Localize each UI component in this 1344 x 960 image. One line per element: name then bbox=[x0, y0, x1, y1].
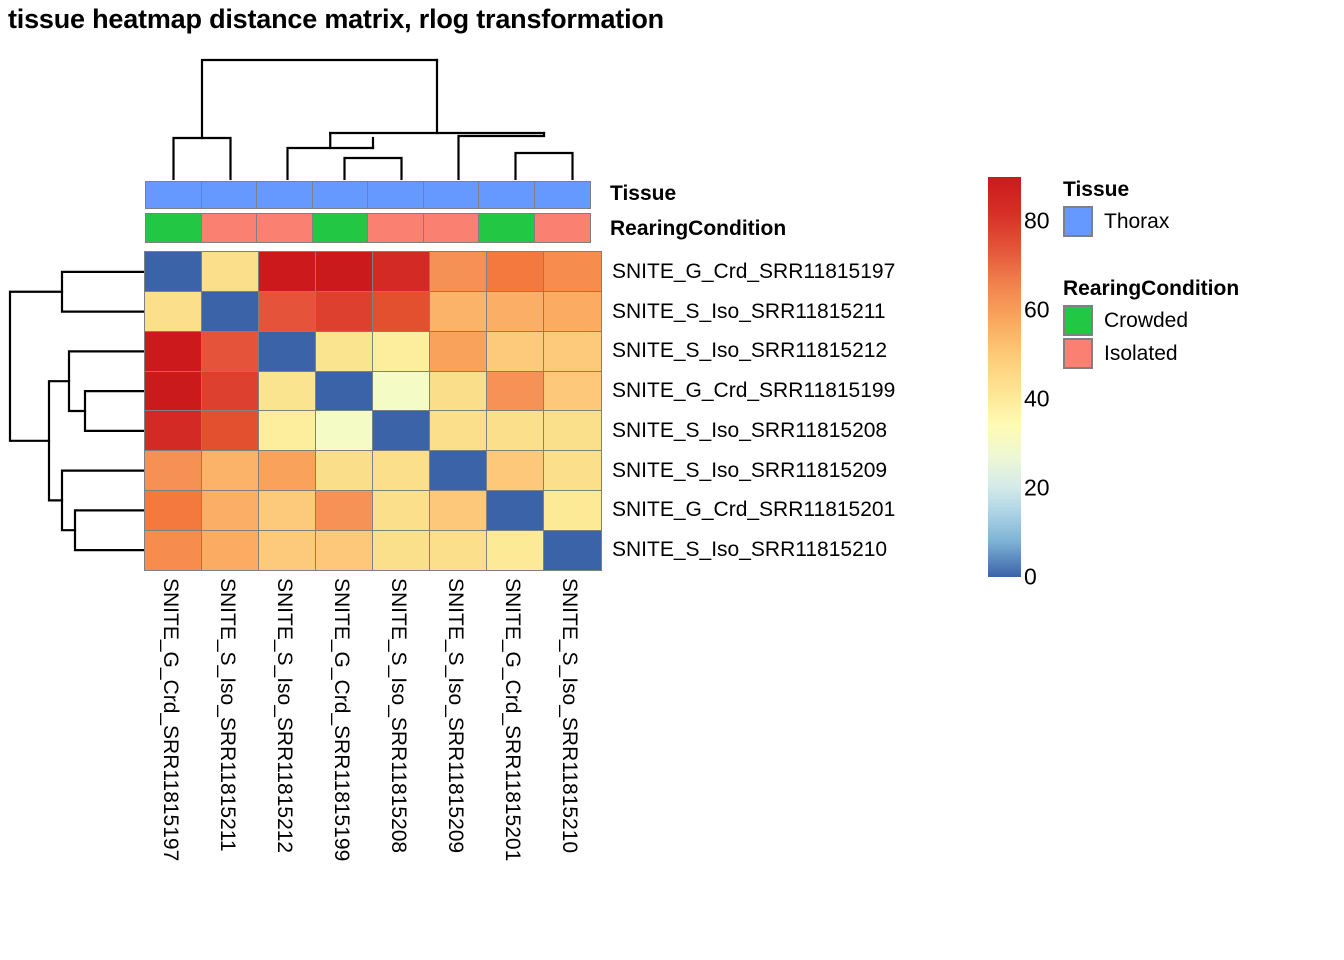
column-label: SNITE_S_Iso_SRR11815211 bbox=[215, 578, 239, 852]
annotation-cell-rearingcondition bbox=[201, 213, 258, 243]
column-label: SNITE_S_Iso_SRR11815212 bbox=[272, 578, 296, 853]
heatmap-cell bbox=[258, 450, 317, 491]
legend-item[interactable]: Isolated bbox=[1063, 337, 1239, 370]
column-label: SNITE_S_Iso_SRR11815208 bbox=[386, 578, 410, 853]
heatmap-cell bbox=[543, 251, 602, 292]
legend-title: Tissue bbox=[1063, 178, 1169, 202]
heatmap-cell bbox=[201, 530, 260, 571]
heatmap-cell bbox=[543, 331, 602, 372]
colorbar bbox=[988, 177, 1021, 577]
colorbar-gradient bbox=[988, 177, 1021, 577]
annotation-cell-rearingcondition bbox=[256, 213, 313, 243]
heatmap-cell bbox=[201, 331, 260, 372]
heatmap-cell bbox=[258, 530, 317, 571]
colorbar-tick-label: 20 bbox=[1024, 475, 1050, 502]
heatmap-cell bbox=[201, 371, 260, 412]
row-label: SNITE_S_Iso_SRR11815211 bbox=[612, 300, 886, 324]
annotation-cell-tissue bbox=[367, 181, 424, 209]
heatmap-cell bbox=[201, 450, 260, 491]
heatmap-cell bbox=[486, 490, 545, 531]
annotation-cell-tissue bbox=[201, 181, 258, 209]
annotation-cell-tissue bbox=[534, 181, 591, 209]
column-label-group: SNITE_G_Crd_SRR11815197SNITE_S_Iso_SRR11… bbox=[145, 578, 601, 953]
row-dendrogram bbox=[5, 252, 145, 570]
legend-title: RearingCondition bbox=[1063, 277, 1239, 301]
heatmap-cell bbox=[201, 410, 260, 451]
row-label: SNITE_G_Crd_SRR11815197 bbox=[612, 260, 895, 284]
legend-swatch bbox=[1063, 338, 1093, 369]
legend-item[interactable]: Thorax bbox=[1063, 205, 1169, 238]
legend-item-label: Crowded bbox=[1104, 309, 1188, 333]
heatmap-cell bbox=[144, 450, 203, 491]
heatmap-cell bbox=[486, 251, 545, 292]
heatmap-cell bbox=[543, 490, 602, 531]
heatmap-cell bbox=[543, 291, 602, 332]
legend-tissue: TissueThorax bbox=[1063, 178, 1169, 238]
annotation-cell-tissue bbox=[256, 181, 313, 209]
legend-item-label: Thorax bbox=[1104, 210, 1169, 234]
heatmap-cell bbox=[315, 371, 374, 412]
annotation-cell-rearingcondition bbox=[367, 213, 424, 243]
heatmap-cell bbox=[372, 410, 431, 451]
row-label: SNITE_S_Iso_SRR11815208 bbox=[612, 419, 887, 443]
column-label: SNITE_G_Crd_SRR11815197 bbox=[158, 578, 182, 861]
heatmap-cell bbox=[201, 291, 260, 332]
heatmap-cell bbox=[429, 450, 488, 491]
heatmap-cell bbox=[486, 291, 545, 332]
heatmap-cell bbox=[315, 490, 374, 531]
row-label-group: SNITE_G_Crd_SRR11815197SNITE_S_Iso_SRR11… bbox=[612, 252, 982, 570]
row-label: SNITE_G_Crd_SRR11815199 bbox=[612, 379, 895, 403]
heatmap-cell bbox=[486, 450, 545, 491]
annotation-cell-rearingcondition bbox=[145, 213, 202, 243]
annotation-cell-tissue bbox=[478, 181, 535, 209]
legend-item[interactable]: Crowded bbox=[1063, 304, 1239, 337]
heatmap-cell bbox=[372, 490, 431, 531]
heatmap-cell bbox=[315, 251, 374, 292]
annotation-cell-rearingcondition bbox=[423, 213, 480, 243]
annotation-label-rearingcondition: RearingCondition bbox=[610, 217, 786, 241]
heatmap-cell bbox=[258, 490, 317, 531]
heatmap-cell bbox=[144, 371, 203, 412]
legend-rearingcondition: RearingConditionCrowdedIsolated bbox=[1063, 277, 1239, 370]
heatmap-cell bbox=[543, 450, 602, 491]
page-title: tissue heatmap distance matrix, rlog tra… bbox=[8, 4, 664, 35]
annotation-cell-tissue bbox=[145, 181, 202, 209]
heatmap-cell bbox=[315, 410, 374, 451]
heatmap-cell bbox=[372, 530, 431, 571]
heatmap-cell bbox=[429, 371, 488, 412]
annotation-cell-tissue bbox=[423, 181, 480, 209]
column-label: SNITE_S_Iso_SRR11815209 bbox=[443, 578, 467, 853]
heatmap-cell bbox=[201, 490, 260, 531]
heatmap-cell bbox=[144, 530, 203, 571]
heatmap-cell bbox=[201, 251, 260, 292]
colorbar-tick-label: 60 bbox=[1024, 297, 1050, 324]
heatmap-cell bbox=[258, 371, 317, 412]
column-label: SNITE_S_Iso_SRR11815210 bbox=[557, 578, 581, 853]
heatmap-cell bbox=[315, 291, 374, 332]
heatmap-cell bbox=[258, 331, 317, 372]
heatmap-cell bbox=[372, 251, 431, 292]
heatmap-cell bbox=[372, 450, 431, 491]
heatmap-cell bbox=[429, 291, 488, 332]
annotation-cell-rearingcondition bbox=[312, 213, 369, 243]
heatmap-cell bbox=[429, 410, 488, 451]
heatmap-cell bbox=[486, 530, 545, 571]
heatmap-cell bbox=[543, 371, 602, 412]
row-label: SNITE_G_Crd_SRR11815201 bbox=[612, 498, 895, 522]
colorbar-tick-label: 0 bbox=[1024, 564, 1037, 591]
heatmap-cell bbox=[486, 371, 545, 412]
heatmap-cell bbox=[372, 291, 431, 332]
heatmap-cell bbox=[144, 490, 203, 531]
heatmap-cell bbox=[486, 410, 545, 451]
heatmap-cell bbox=[315, 450, 374, 491]
heatmap-cell bbox=[144, 291, 203, 332]
heatmap-cell bbox=[144, 331, 203, 372]
annotation-label-tissue: Tissue bbox=[610, 182, 676, 206]
legend-swatch bbox=[1063, 206, 1093, 237]
heatmap-cell bbox=[543, 530, 602, 571]
colorbar-tick-label: 80 bbox=[1024, 208, 1050, 235]
heatmap-cell bbox=[429, 530, 488, 571]
heatmap-cell bbox=[315, 331, 374, 372]
colorbar-tick-label: 40 bbox=[1024, 386, 1050, 413]
annotation-bar-tissue bbox=[145, 181, 601, 209]
row-label: SNITE_S_Iso_SRR11815210 bbox=[612, 538, 887, 562]
heatmap-cell bbox=[429, 251, 488, 292]
row-label: SNITE_S_Iso_SRR11815212 bbox=[612, 339, 887, 363]
heatmap-cell bbox=[258, 291, 317, 332]
heatmap-cell bbox=[543, 410, 602, 451]
heatmap-cell bbox=[144, 410, 203, 451]
figure-canvas: tissue heatmap distance matrix, rlog tra… bbox=[0, 0, 1344, 960]
legend-item-label: Isolated bbox=[1104, 342, 1178, 366]
annotation-cell-tissue bbox=[312, 181, 369, 209]
heatmap-cell bbox=[315, 530, 374, 571]
row-label: SNITE_S_Iso_SRR11815209 bbox=[612, 459, 887, 483]
heatmap-cell bbox=[144, 251, 203, 292]
heatmap-cell bbox=[486, 331, 545, 372]
heatmap-cell bbox=[372, 371, 431, 412]
heatmap-grid bbox=[145, 252, 601, 570]
annotation-cell-rearingcondition bbox=[478, 213, 535, 243]
column-dendrogram bbox=[145, 50, 601, 180]
heatmap-cell bbox=[258, 251, 317, 292]
heatmap-cell bbox=[429, 490, 488, 531]
heatmap-cell bbox=[258, 410, 317, 451]
legend-swatch bbox=[1063, 305, 1093, 336]
column-label: SNITE_G_Crd_SRR11815201 bbox=[500, 578, 524, 861]
heatmap-cell bbox=[429, 331, 488, 372]
annotation-cell-rearingcondition bbox=[534, 213, 591, 243]
column-label: SNITE_G_Crd_SRR11815199 bbox=[329, 578, 353, 861]
heatmap-cell bbox=[372, 331, 431, 372]
annotation-bar-rearingcondition bbox=[145, 213, 601, 243]
